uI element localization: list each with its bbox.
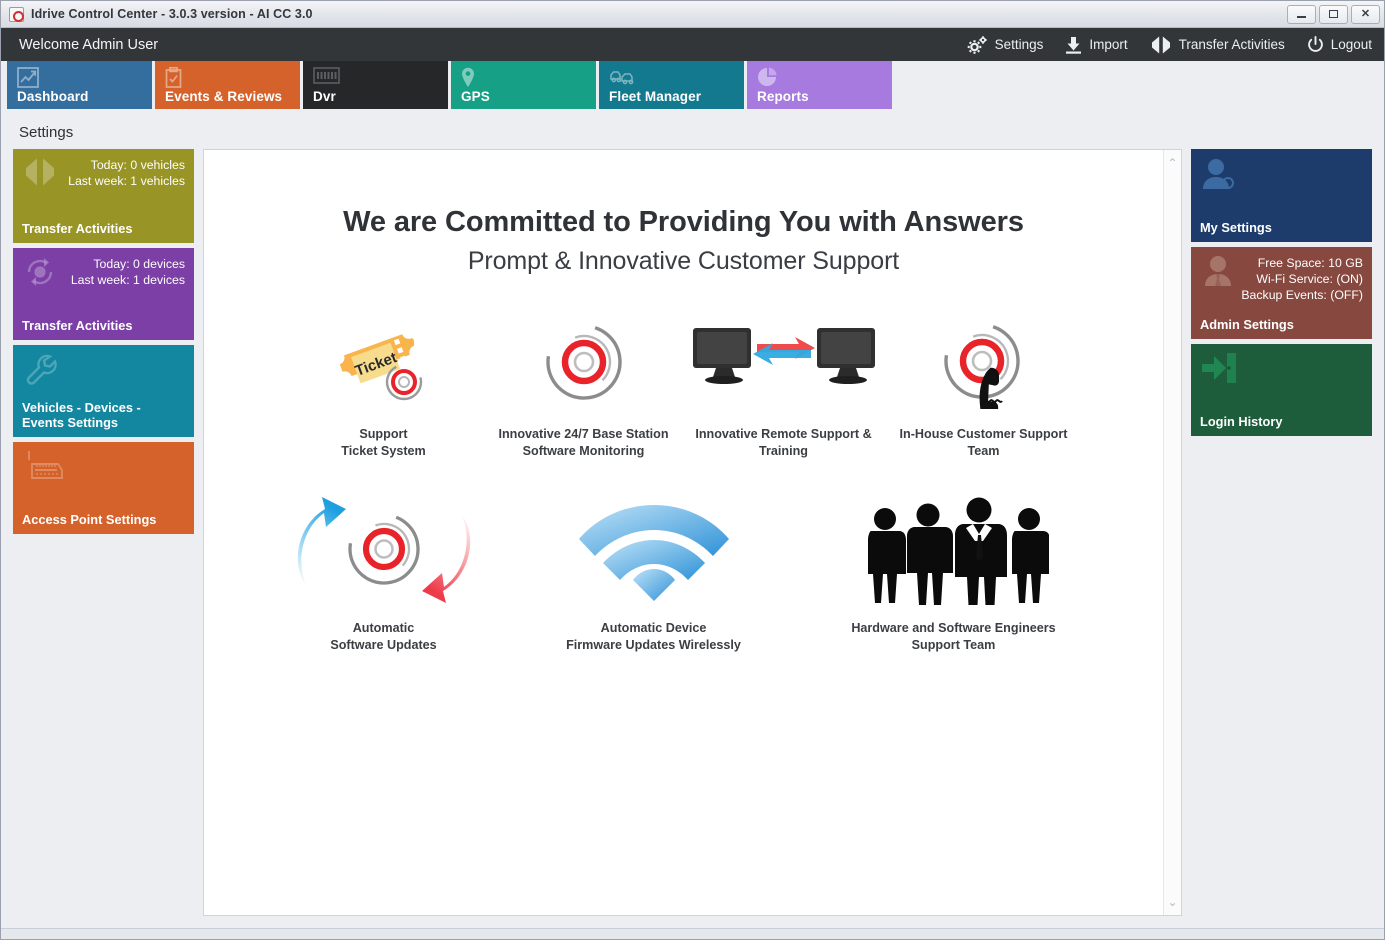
support-ticket-icon: Ticket (334, 314, 434, 410)
header-transfer-label: Transfer Activities (1179, 37, 1285, 52)
pie-chart-icon (757, 67, 892, 88)
user-gear-icon (1201, 157, 1237, 196)
user-tie-icon (1201, 255, 1235, 292)
feature-caption: Hardware and Software Engineers Support … (851, 620, 1055, 654)
main-tab-strip: Dashboard Events & Reviews Dvr GPS Fleet (1, 61, 1384, 115)
status-bar (1, 928, 1384, 939)
app-header: Welcome Admin User Settings (1, 28, 1384, 61)
tile-label: Admin Settings (1200, 317, 1302, 332)
tab-events-reviews-label: Events & Reviews (165, 89, 282, 104)
feature-automatic-software-updates: Automatic Software Updates (264, 494, 504, 654)
remote-monitors-icon (689, 314, 879, 410)
tab-reports-label: Reports (757, 89, 809, 104)
tile-vehicles-devices-events-settings[interactable]: Vehicles - Devices - Events Settings (13, 345, 194, 437)
header-import-label: Import (1089, 37, 1127, 52)
application-window: Idrive Control Center - 3.0.3 version - … (0, 0, 1385, 940)
feature-row-1: Ticket Support Ticket System (204, 314, 1163, 460)
header-settings-button[interactable]: Settings (967, 36, 1044, 54)
content-scrollbar[interactable]: ⌃ ⌄ (1163, 150, 1181, 915)
clipboard-check-icon (165, 67, 300, 88)
tab-events-reviews[interactable]: Events & Reviews (155, 61, 300, 109)
tile-label: Access Point Settings (22, 512, 164, 527)
power-icon (1307, 36, 1324, 54)
scroll-down-icon[interactable]: ⌄ (1167, 896, 1177, 908)
tab-gps[interactable]: GPS (451, 61, 596, 109)
main-subheading: Prompt & Innovative Customer Support (204, 247, 1163, 276)
tile-transfer-activities-vehicles[interactable]: Today: 0 vehicles Last week: 1 vehicles … (13, 149, 194, 243)
page-body: Today: 0 vehicles Last week: 1 vehicles … (1, 149, 1384, 928)
feature-caption: Innovative 24/7 Base Station Software Mo… (498, 426, 668, 460)
feature-base-station-monitoring: Innovative 24/7 Base Station Software Mo… (484, 314, 684, 460)
header-import-button[interactable]: Import (1065, 36, 1127, 54)
tab-reports[interactable]: Reports (747, 61, 892, 109)
header-logout-button[interactable]: Logout (1307, 36, 1372, 54)
tile-label: Vehicles - Devices - Events Settings (22, 400, 194, 430)
window-controls: ✕ (1287, 5, 1380, 24)
login-door-icon (1201, 352, 1237, 389)
main-heading: We are Committed to Providing You with A… (204, 206, 1163, 239)
auto-update-target-icon (294, 494, 474, 604)
tile-transfer-activities-devices[interactable]: Today: 0 devices Last week: 1 devices Tr… (13, 248, 194, 340)
feature-automatic-firmware-updates: Automatic Device Firmware Updates Wirele… (504, 494, 804, 654)
feature-row-2: Automatic Software Updates (204, 494, 1163, 654)
header-settings-label: Settings (995, 37, 1044, 52)
close-icon: ✕ (1361, 9, 1370, 20)
transfer-arrows-icon (23, 157, 57, 192)
wrench-icon (23, 353, 59, 392)
feature-hardware-software-engineers: Hardware and Software Engineers Support … (804, 494, 1104, 654)
transfer-arrows-icon (1150, 36, 1172, 54)
gears-icon (967, 36, 988, 54)
vehicles-icon (609, 67, 744, 88)
feature-caption: Automatic Software Updates (330, 620, 436, 654)
maximize-icon (1329, 10, 1338, 18)
tab-dashboard[interactable]: Dashboard (7, 61, 152, 109)
header-actions: Settings Import (967, 36, 1372, 54)
tile-my-settings[interactable]: My Settings (1191, 149, 1372, 242)
window-title: Idrive Control Center - 3.0.3 version - … (31, 7, 313, 21)
header-logout-label: Logout (1331, 37, 1372, 52)
close-button[interactable]: ✕ (1351, 5, 1380, 24)
feature-support-ticket-system: Ticket Support Ticket System (284, 314, 484, 460)
tab-dvr-label: Dvr (313, 89, 336, 104)
phone-target-icon (934, 314, 1034, 410)
dvr-icon (313, 67, 448, 88)
chart-line-icon (17, 67, 152, 88)
feature-caption: In-House Customer Support Team (900, 426, 1068, 460)
main-content: We are Committed to Providing You with A… (204, 150, 1163, 915)
maximize-button[interactable] (1319, 5, 1348, 24)
minimize-icon (1297, 16, 1306, 18)
tab-dvr[interactable]: Dvr (303, 61, 448, 109)
tile-label: Transfer Activities (22, 318, 140, 333)
feature-remote-support-training: Innovative Remote Support & Training (684, 314, 884, 460)
main-content-wrapper: We are Committed to Providing You with A… (203, 149, 1182, 916)
tab-fleet-manager[interactable]: Fleet Manager (599, 61, 744, 109)
right-sidebar: My Settings Free Space: 10 GB Wi-Fi Serv… (1191, 149, 1372, 916)
tile-label: Transfer Activities (22, 221, 140, 236)
tile-login-history[interactable]: Login History (1191, 344, 1372, 436)
scroll-up-icon[interactable]: ⌃ (1167, 157, 1177, 169)
welcome-message: Welcome Admin User (19, 37, 158, 53)
tab-fleet-manager-label: Fleet Manager (609, 89, 701, 104)
base-station-target-icon (539, 314, 629, 410)
app-icon (9, 7, 24, 22)
feature-in-house-support-team: In-House Customer Support Team (884, 314, 1084, 460)
left-sidebar: Today: 0 vehicles Last week: 1 vehicles … (13, 149, 194, 916)
minimize-button[interactable] (1287, 5, 1316, 24)
tab-dashboard-label: Dashboard (17, 89, 88, 104)
sync-circle-icon (23, 256, 57, 293)
feature-caption: Support Ticket System (341, 426, 425, 460)
tile-admin-settings[interactable]: Free Space: 10 GB Wi-Fi Service: (ON) Ba… (1191, 247, 1372, 339)
wifi-signal-icon (579, 494, 729, 604)
tab-gps-label: GPS (461, 89, 490, 104)
people-group-icon (859, 494, 1049, 604)
feature-caption: Automatic Device Firmware Updates Wirele… (566, 620, 741, 654)
tile-label: My Settings (1200, 220, 1280, 235)
router-icon (23, 450, 69, 489)
header-transfer-activities-button[interactable]: Transfer Activities (1150, 36, 1285, 54)
map-pin-icon (461, 67, 596, 88)
tile-access-point-settings[interactable]: Access Point Settings (13, 442, 194, 534)
page-subheader: Settings (1, 115, 1384, 149)
feature-caption: Innovative Remote Support & Training (695, 426, 871, 460)
download-icon (1065, 36, 1082, 54)
tile-label: Login History (1200, 414, 1290, 429)
title-bar: Idrive Control Center - 3.0.3 version - … (1, 1, 1384, 28)
page-title: Settings (19, 124, 73, 141)
